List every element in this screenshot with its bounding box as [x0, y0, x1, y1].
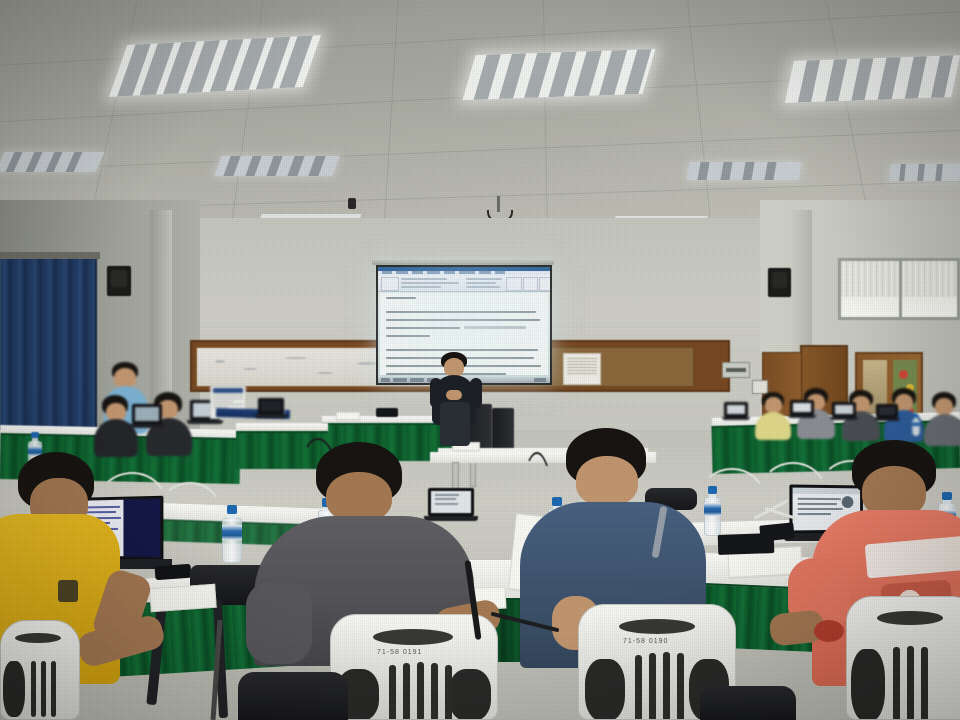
ceiling-light-fixture	[463, 49, 656, 100]
ceiling-light-fixture	[889, 164, 960, 181]
water-bottle	[912, 414, 920, 436]
wall-speaker-left	[107, 266, 131, 296]
curtain-rod	[0, 252, 100, 259]
ceiling-light-fixture	[214, 156, 339, 176]
projected-ribbon	[378, 275, 550, 292]
backpack	[700, 686, 796, 720]
ceiling-light-fixture	[0, 152, 104, 172]
ceiling-light-fixture	[686, 162, 801, 180]
presenter-legs	[440, 402, 470, 446]
paper-stack	[149, 584, 217, 613]
seminar-room-photo: L 1213	[0, 0, 960, 720]
desktop-tower	[492, 408, 514, 452]
water-bottle	[222, 505, 242, 563]
shirt-logo	[58, 580, 78, 602]
clerestory-window	[838, 258, 960, 320]
smartphone[interactable]	[155, 564, 192, 580]
chair-marking: 71-58 0190	[623, 638, 668, 645]
shirt-sleeve-logo	[814, 620, 844, 642]
ceiling-sensor-icon	[348, 198, 356, 209]
wall-plaque	[722, 362, 750, 378]
water-bottle	[704, 486, 721, 536]
wall-speaker-right	[768, 268, 791, 297]
projector-screen-housing	[372, 258, 554, 265]
chair-marking: 71-58 0191	[377, 649, 422, 656]
wall-small-frame	[752, 380, 768, 394]
av-switch-box	[376, 408, 398, 417]
ceiling-light-fixture	[109, 35, 321, 97]
notice-sheet	[563, 353, 601, 385]
ceiling-light-fixture	[785, 55, 960, 103]
backpack	[238, 672, 348, 720]
paper-sheet	[336, 412, 360, 420]
